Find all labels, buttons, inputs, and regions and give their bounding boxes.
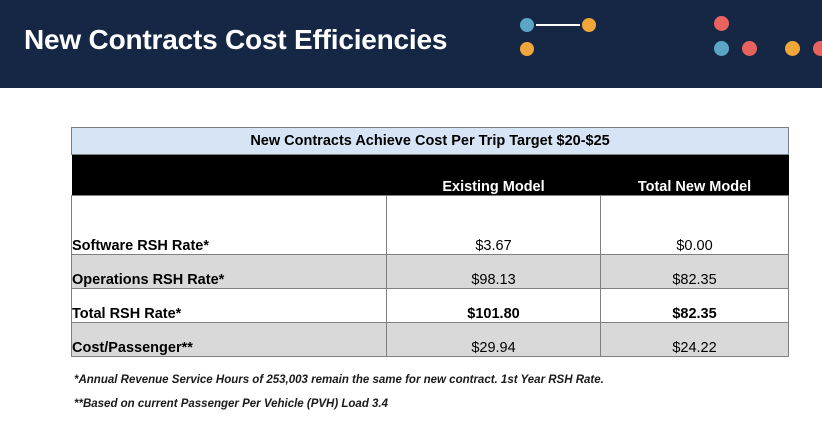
table-title-row: New Contracts Achieve Cost Per Trip Targ… [72, 128, 789, 155]
page-title: New Contracts Cost Efficiencies [24, 24, 447, 56]
decorative-dot [520, 42, 534, 56]
cell-total-new-model: $82.35 [601, 289, 789, 323]
column-header-total-new-model: Total New Model [601, 155, 789, 196]
decorative-dot [714, 41, 729, 56]
cell-total-new-model: $24.22 [601, 323, 789, 357]
decorative-dot [714, 16, 729, 31]
decorative-connector-line [536, 24, 580, 26]
table-row: Cost/Passenger**$29.94$24.22 [72, 323, 789, 357]
cell-existing-model: $101.80 [387, 289, 601, 323]
table-title: New Contracts Achieve Cost Per Trip Targ… [72, 128, 789, 155]
cell-total-new-model: $82.35 [601, 255, 789, 289]
row-label: Software RSH Rate* [72, 196, 387, 255]
decorative-dot [582, 18, 596, 32]
header-banner: New Contracts Cost Efficiencies [0, 0, 822, 88]
decorative-dot [813, 41, 822, 56]
column-header-blank [72, 155, 387, 196]
row-label: Operations RSH Rate* [72, 255, 387, 289]
cell-existing-model: $3.67 [387, 196, 601, 255]
cell-total-new-model: $0.00 [601, 196, 789, 255]
table-row: Operations RSH Rate*$98.13$82.35 [72, 255, 789, 289]
cost-efficiency-table: New Contracts Achieve Cost Per Trip Targ… [71, 127, 789, 357]
footnote-annual-revenue-service-hours: *Annual Revenue Service Hours of 253,003… [74, 374, 604, 386]
footnote-passenger-per-vehicle: **Based on current Passenger Per Vehicle… [74, 398, 388, 410]
decorative-dot [785, 41, 800, 56]
table-row: Total RSH Rate*$101.80$82.35 [72, 289, 789, 323]
decorative-dot-group-right [781, 16, 822, 64]
table-column-header-row: Existing Model Total New Model [72, 155, 789, 196]
decorative-dot [742, 41, 757, 56]
decorative-dot [520, 18, 534, 32]
decorative-dot-group-left [520, 16, 610, 64]
cell-existing-model: $29.94 [387, 323, 601, 357]
table-row: Software RSH Rate*$3.67$0.00 [72, 196, 789, 255]
row-label: Cost/Passenger** [72, 323, 387, 357]
column-header-existing-model: Existing Model [387, 155, 601, 196]
cell-existing-model: $98.13 [387, 255, 601, 289]
decorative-dot-group-middle [710, 16, 762, 64]
row-label: Total RSH Rate* [72, 289, 387, 323]
